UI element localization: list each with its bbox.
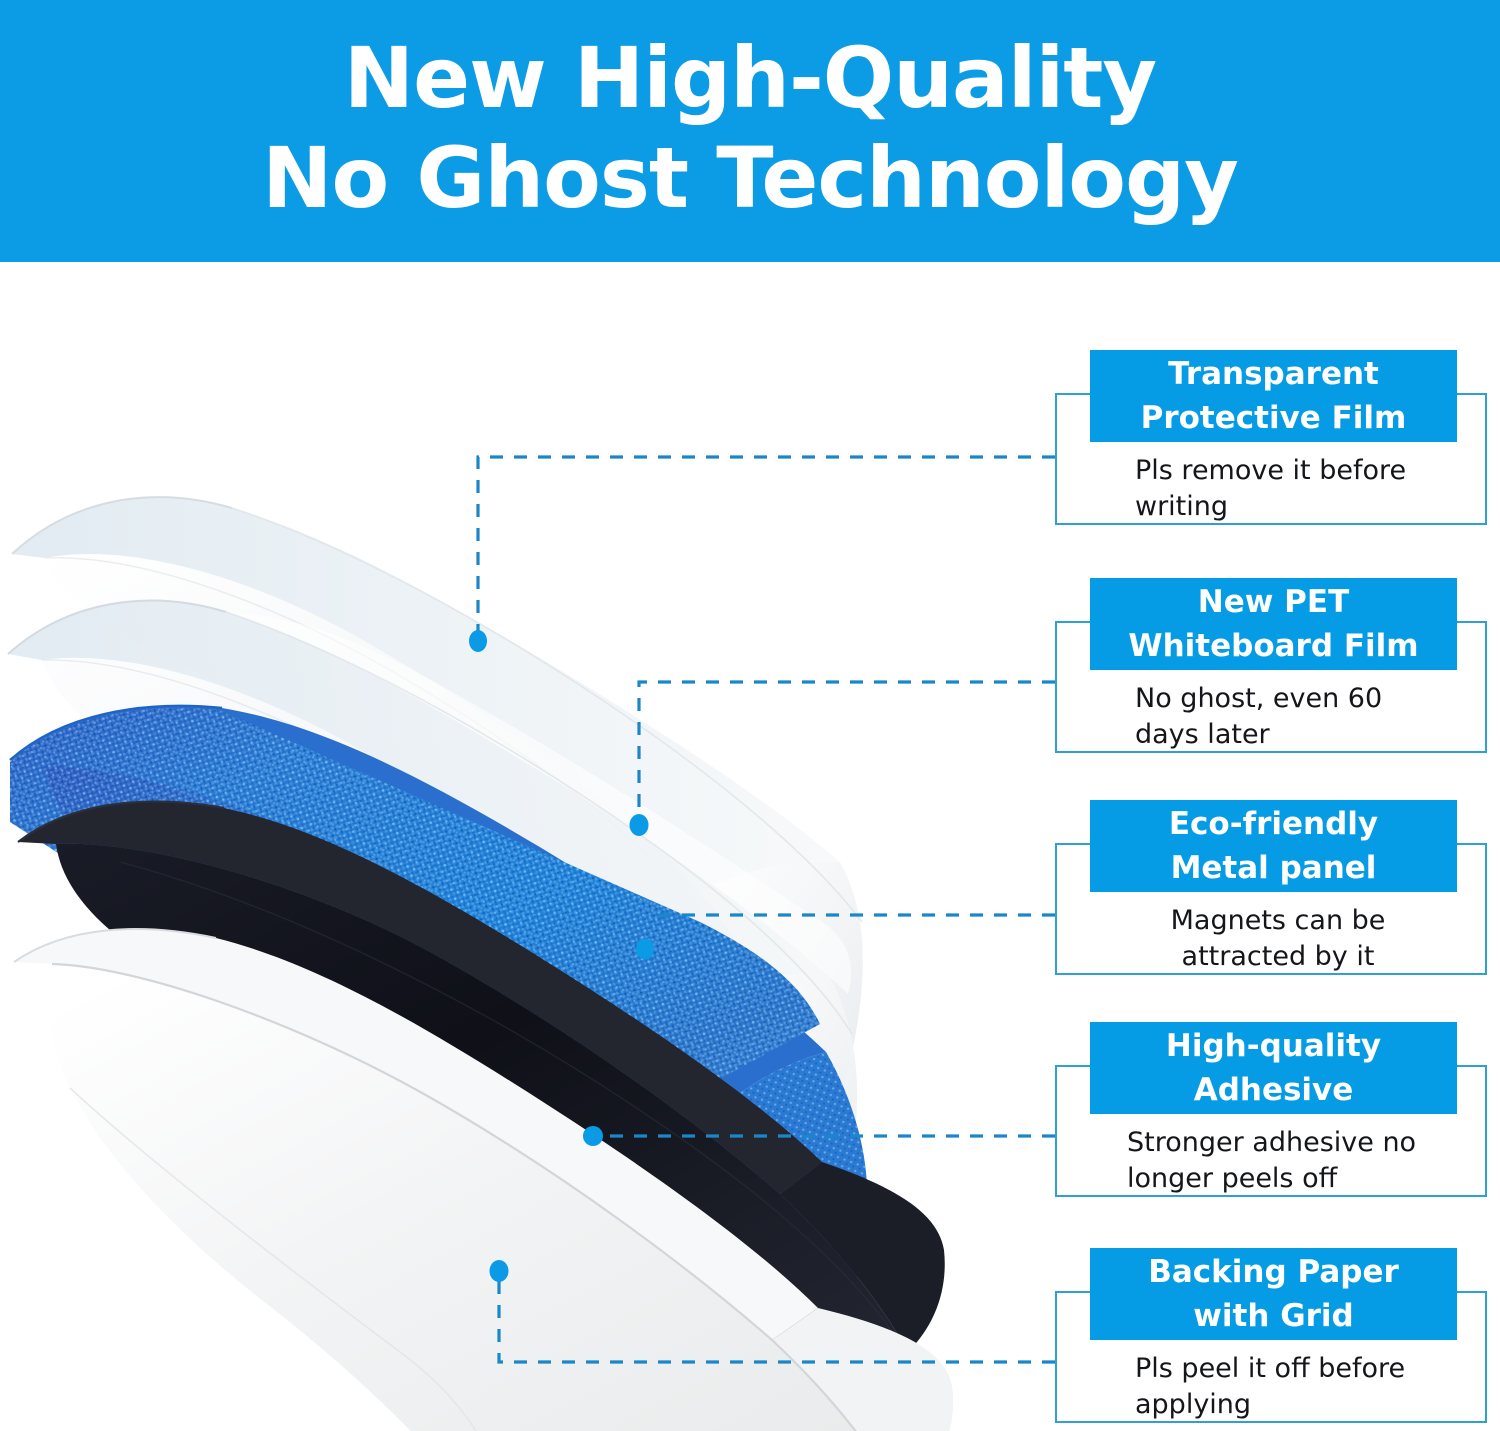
callout-title-badge: Backing Paper with Grid <box>1090 1248 1457 1340</box>
callout-description: Stronger adhesive no longer peels off <box>1127 1125 1471 1197</box>
product-layer-illustration <box>0 262 1040 1431</box>
callout-description: Magnets can be attracted by it <box>1097 903 1459 975</box>
callout-description: Pls peel it off before applying <box>1135 1351 1471 1423</box>
callout-title-badge: High-quality Adhesive <box>1090 1022 1457 1114</box>
callout-title-badge: New PET Whiteboard Film <box>1090 578 1457 670</box>
callout-title-badge: Transparent Protective Film <box>1090 350 1457 442</box>
callout-description: No ghost, even 60 days later <box>1135 681 1471 753</box>
callout-list: Pls remove it before writing Transparent… <box>1055 0 1500 1431</box>
callout-title-badge: Eco-friendly Metal panel <box>1090 800 1457 892</box>
callout-description: Pls remove it before writing <box>1135 453 1471 525</box>
